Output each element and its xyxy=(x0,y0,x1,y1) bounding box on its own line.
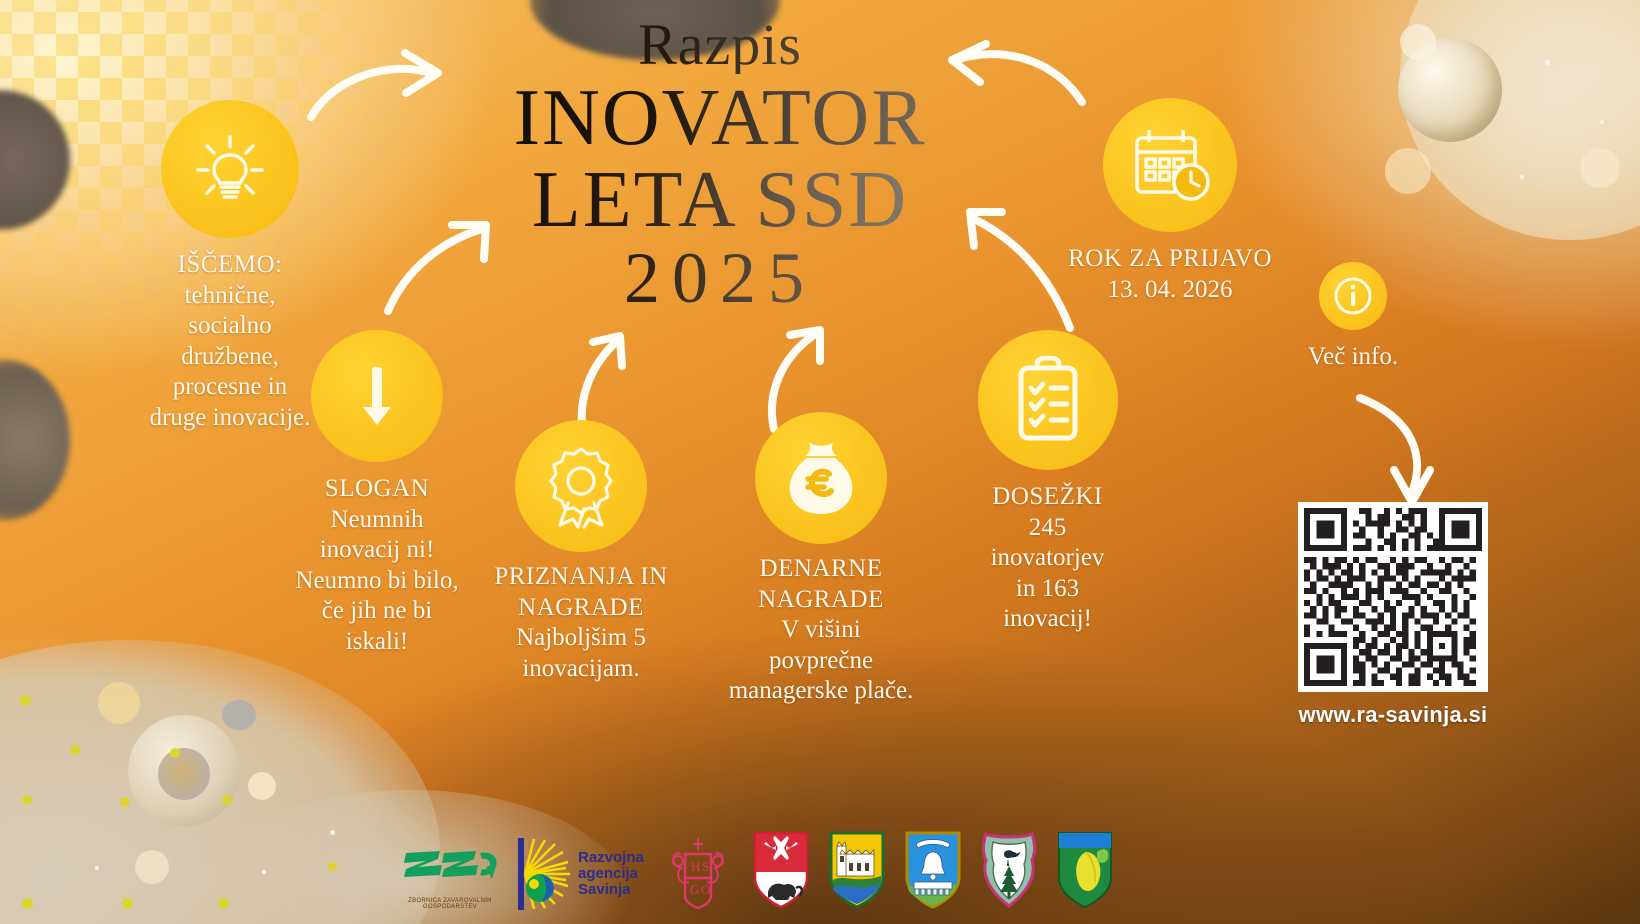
dosezki-caption: DOSEŽKI 245 inovatorjev in 163 inovacij! xyxy=(940,482,1155,635)
yellow-speck xyxy=(70,745,80,755)
poster-canvas: Razpis INOVATOR LETA SSD 2025 xyxy=(0,0,1640,924)
rok-caption: ROK ZA PRIJAVO 13. 04. 2026 xyxy=(1040,244,1300,305)
title-line-year: 2025 xyxy=(440,242,1000,314)
dosezki-heading: DOSEŽKI xyxy=(940,482,1155,513)
zzg-caption: ZBORNICA ZAVAROVALNIH GOSPODARSTEV xyxy=(400,898,500,910)
info-label: Več info. xyxy=(1288,342,1418,373)
info-bubble[interactable] xyxy=(1319,262,1387,330)
municipality-crest-1: H S G O xyxy=(662,830,734,910)
money-bag-euro-icon xyxy=(779,436,863,520)
ras-line-1: Razvojna xyxy=(578,850,644,866)
iscemo-bubble xyxy=(161,100,299,238)
slogan-line-3: Neumno bi bilo, xyxy=(252,566,502,597)
node-denarne: DENARNE NAGRADE V višini povprečne manag… xyxy=(706,412,936,707)
yellow-speck xyxy=(222,795,232,805)
bubble-bl-1 xyxy=(98,682,140,724)
node-info: Več info. xyxy=(1288,262,1418,373)
iscemo-line-1: tehnične, xyxy=(110,281,350,312)
razvojna-agencija-savinja-logo: Razvojna agencija Savinja xyxy=(518,838,644,910)
denarne-caption: DENARNE NAGRADE V višini povprečne manag… xyxy=(706,554,936,707)
sphere-bottom-left-inner xyxy=(158,748,210,800)
slogan-line-1: Neumnih xyxy=(252,505,502,536)
pale-patch-top-right xyxy=(1400,0,1640,240)
ras-wordmark: Razvojna agencija Savinja xyxy=(578,850,644,899)
dark-blob-left-b xyxy=(0,360,70,520)
sphere-top-right xyxy=(1398,38,1502,142)
priznanja-caption: PRIZNANJA IN NAGRADE Najboljšim 5 inovac… xyxy=(466,562,696,684)
yellow-speck xyxy=(122,898,133,909)
info-caption: Več info. xyxy=(1288,342,1418,373)
rok-bubble xyxy=(1103,98,1237,232)
node-slogan: SLOGAN Neumnih inovacij ni! Neumno bi bi… xyxy=(252,330,502,657)
yellow-speck xyxy=(218,898,229,909)
rok-date: 13. 04. 2026 xyxy=(1040,275,1300,306)
slogan-line-2: inovacij ni! xyxy=(252,535,502,566)
qr-code-matrix xyxy=(1304,508,1482,686)
node-priznanja: PRIZNANJA IN NAGRADE Najboljšim 5 inovac… xyxy=(466,420,696,684)
bubble-bl-2 xyxy=(248,772,276,800)
priznanja-line-2: inovacijam. xyxy=(466,654,696,685)
slogan-line-4: če jih ne bi xyxy=(252,596,502,627)
slogan-bubble xyxy=(311,330,443,462)
dosezki-line-4: inovacij! xyxy=(940,604,1155,635)
municipality-crest-2 xyxy=(752,830,810,910)
priznanja-heading-line-2: NAGRADE xyxy=(466,593,696,624)
arrow-info-to-qr xyxy=(1350,390,1440,510)
bubble-tr-3 xyxy=(1580,148,1620,188)
denarne-bubble xyxy=(755,412,887,544)
denarne-heading-line-1: DENARNE xyxy=(706,554,936,585)
white-speck xyxy=(1600,120,1604,124)
svg-text:H: H xyxy=(691,859,700,874)
yellow-speck xyxy=(20,695,31,706)
white-speck xyxy=(95,866,99,870)
pale-patch-bottom-left xyxy=(0,640,440,924)
white-speck xyxy=(262,870,266,874)
white-speck xyxy=(1545,60,1550,65)
svg-text:S: S xyxy=(702,859,709,874)
award-ribbon-icon xyxy=(542,443,620,529)
ras-line-3: Savinja xyxy=(578,882,644,898)
municipality-crest-6 xyxy=(1056,830,1114,910)
lightbulb-icon xyxy=(190,129,270,209)
info-circle-icon xyxy=(1330,273,1376,319)
dosezki-line-3: in 163 xyxy=(940,574,1155,605)
yellow-speck xyxy=(170,748,180,758)
poster-title: Razpis INOVATOR LETA SSD 2025 xyxy=(440,16,1000,314)
node-dosezki: DOSEŽKI 245 inovatorjev in 163 inovacij! xyxy=(940,330,1155,635)
municipality-crest-5 xyxy=(980,830,1038,910)
white-speck xyxy=(1520,175,1524,179)
svg-text:G: G xyxy=(690,882,699,897)
node-rok: ROK ZA PRIJAVO 13. 04. 2026 xyxy=(1040,98,1300,305)
title-line-inovator: INOVATOR xyxy=(440,78,1000,158)
clipboard-checklist-icon xyxy=(1009,356,1087,444)
zzg-mark xyxy=(400,843,500,891)
slogan-caption: SLOGAN Neumnih inovacij ni! Neumno bi bi… xyxy=(252,474,502,657)
bubble-tr-2 xyxy=(1385,148,1431,194)
dosezki-line-2: inovatorjev xyxy=(940,543,1155,574)
down-arrow-icon xyxy=(347,359,407,433)
ras-line-2: agencija xyxy=(578,866,644,882)
dark-blob-left-a xyxy=(0,90,70,230)
municipality-crest-4 xyxy=(904,830,962,910)
yellow-speck xyxy=(328,862,337,871)
title-line-razpis: Razpis xyxy=(440,16,1000,74)
title-line-leta-ssd: LETA SSD xyxy=(440,160,1000,240)
zzg-logo: ZBORNICA ZAVAROVALNIH GOSPODARSTEV xyxy=(400,843,500,910)
slogan-heading: SLOGAN xyxy=(252,474,502,505)
website-url[interactable]: www.ra-savinja.si xyxy=(1293,702,1493,728)
denarne-line-3: managerske plače. xyxy=(706,676,936,707)
priznanja-line-1: Najboljšim 5 xyxy=(466,623,696,654)
sunburst-mark xyxy=(518,838,574,910)
white-speck xyxy=(330,830,335,835)
municipality-crest-3 xyxy=(828,830,886,910)
priznanja-bubble xyxy=(515,420,647,552)
yellow-speck xyxy=(120,797,130,807)
dosezki-bubble xyxy=(978,330,1118,470)
dosezki-line-1: 245 xyxy=(940,513,1155,544)
bubble-bl-3 xyxy=(135,850,169,884)
yellow-speck xyxy=(22,898,33,909)
rok-heading: ROK ZA PRIJAVO xyxy=(1040,244,1300,275)
balloon-bl xyxy=(222,700,256,730)
calendar-clock-icon xyxy=(1129,126,1211,204)
yellow-speck xyxy=(22,795,32,805)
qr-code[interactable] xyxy=(1298,502,1488,692)
denarne-line-2: povprečne xyxy=(706,646,936,677)
denarne-heading-line-2: NAGRADE xyxy=(706,585,936,616)
iscemo-heading: IŠČEMO: xyxy=(110,250,350,281)
bubble-tr-1 xyxy=(1400,24,1436,60)
priznanja-heading-line-1: PRIZNANJA IN xyxy=(466,562,696,593)
partner-logos: ZBORNICA ZAVAROVALNIH GOSPODARSTEV xyxy=(400,830,1114,910)
svg-text:O: O xyxy=(701,882,710,897)
denarne-line-1: V višini xyxy=(706,615,936,646)
slogan-line-5: iskali! xyxy=(252,627,502,658)
sphere-bottom-left xyxy=(128,715,240,827)
